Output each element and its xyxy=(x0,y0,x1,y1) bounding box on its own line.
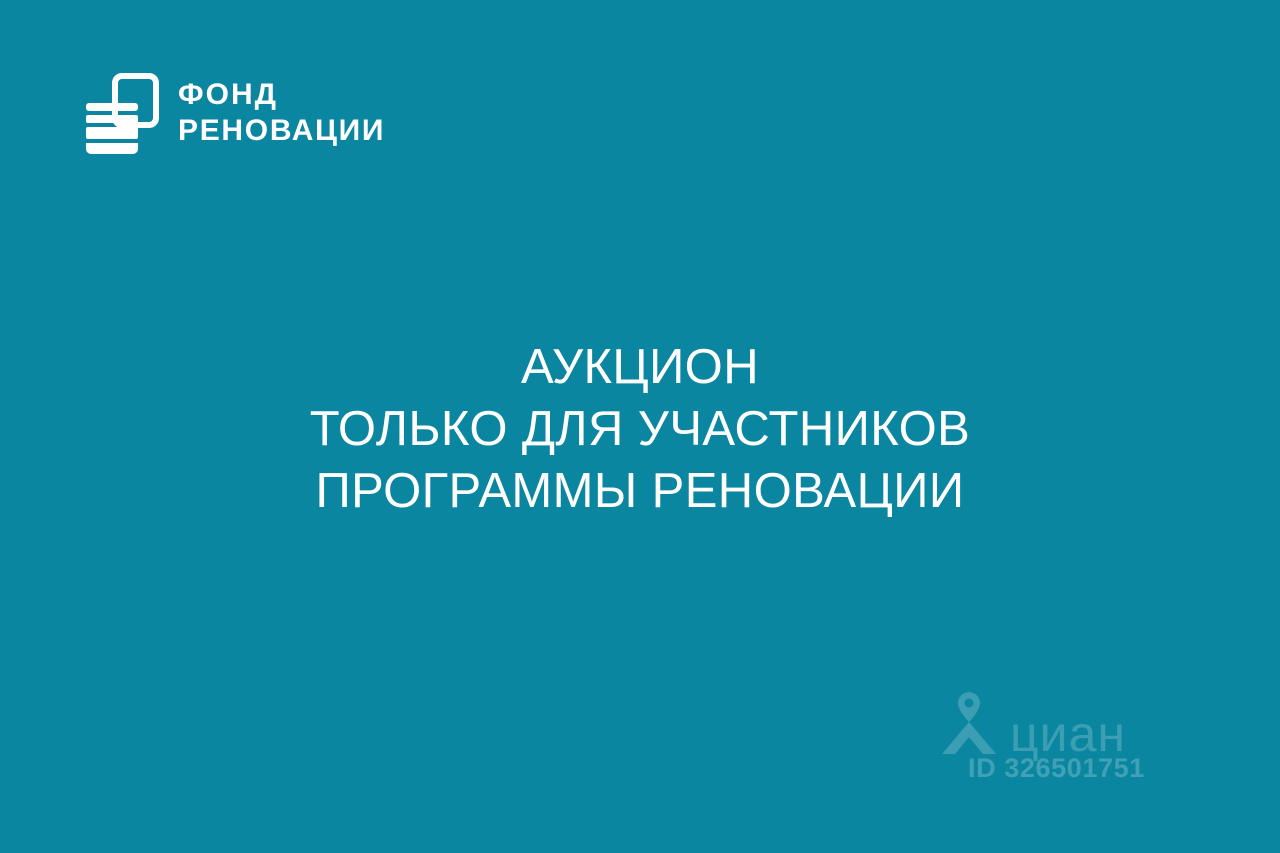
headline-line-3: ПРОГРАММЫ РЕНОВАЦИИ xyxy=(0,460,1280,522)
cian-wordmark: циан xyxy=(1010,708,1126,760)
cian-watermark: циан ID 326501751 xyxy=(938,690,1178,795)
listing-id: ID 326501751 xyxy=(968,753,1145,784)
promo-banner: ФОНД РЕНОВАЦИИ АУКЦИОН ТОЛЬКО ДЛЯ УЧАСТН… xyxy=(0,0,1280,853)
document-stack-icon xyxy=(82,72,160,156)
brand-logo: ФОНД РЕНОВАЦИИ xyxy=(82,72,385,156)
headline-line-2: ТОЛЬКО ДЛЯ УЧАСТНИКОВ xyxy=(0,398,1280,460)
cian-logo: циан xyxy=(938,690,1126,756)
brand-line-1: ФОНД xyxy=(178,80,385,110)
headline-line-1: АУКЦИОН xyxy=(0,336,1280,398)
brand-line-2: РЕНОВАЦИИ xyxy=(178,116,385,146)
headline: АУКЦИОН ТОЛЬКО ДЛЯ УЧАСТНИКОВ ПРОГРАММЫ … xyxy=(0,336,1280,522)
cian-map-pin-icon xyxy=(938,690,1000,756)
brand-wordmark: ФОНД РЕНОВАЦИИ xyxy=(178,80,385,148)
